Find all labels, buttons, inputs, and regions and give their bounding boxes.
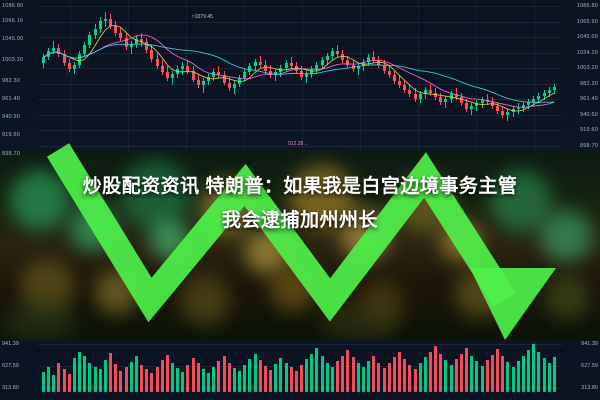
bokeh-blob bbox=[180, 275, 230, 325]
price-tick-label: 1086.80 bbox=[577, 3, 598, 9]
grid-line bbox=[38, 344, 562, 345]
volume-bar bbox=[202, 369, 205, 392]
price-tick-label: 961.40 bbox=[580, 96, 598, 102]
candle-body bbox=[486, 100, 489, 101]
volume-bar bbox=[491, 355, 494, 392]
candle-body bbox=[300, 71, 303, 77]
volume-bar bbox=[145, 369, 148, 392]
volume-bar bbox=[424, 357, 427, 392]
volume-bar bbox=[383, 368, 386, 392]
candle-body bbox=[315, 65, 318, 69]
grid-line-vertical bbox=[186, 0, 187, 152]
bokeh-blob bbox=[95, 270, 139, 314]
volume-bar bbox=[450, 365, 453, 392]
volume-bar bbox=[274, 364, 277, 392]
candle-body bbox=[305, 74, 308, 77]
candle-body bbox=[336, 51, 339, 54]
volume-chart: 941.39627.59313.80 941.39627.59313.80 bbox=[0, 336, 600, 400]
volume-bar bbox=[94, 367, 97, 392]
volume-bar bbox=[78, 352, 81, 392]
price-tick-label: 1045.00 bbox=[2, 36, 23, 42]
volume-bar bbox=[419, 363, 422, 392]
candle-body bbox=[444, 99, 447, 102]
candle-body bbox=[419, 94, 422, 98]
volume-bar bbox=[393, 357, 396, 392]
candle-body bbox=[553, 87, 556, 90]
volume-bar bbox=[269, 370, 272, 392]
candle-body bbox=[424, 90, 427, 94]
volume-bar bbox=[109, 353, 112, 392]
headline-line2: 我会逮捕加州州长 bbox=[0, 204, 600, 238]
candle-wick bbox=[358, 63, 359, 75]
volume-bar bbox=[300, 365, 303, 392]
volume-bar bbox=[434, 346, 437, 392]
volume-bar bbox=[439, 354, 442, 392]
candle-body bbox=[109, 19, 112, 26]
volume-bar bbox=[161, 360, 164, 392]
candle-body bbox=[310, 69, 313, 73]
volume-bar bbox=[243, 365, 246, 392]
volume-bar bbox=[181, 372, 184, 392]
price-tick-label: 919.60 bbox=[2, 132, 20, 138]
candle-body bbox=[171, 74, 174, 78]
grid-line-vertical bbox=[534, 0, 535, 152]
price-tick-label: 1045.00 bbox=[577, 34, 598, 40]
price-tick-label: 982.30 bbox=[580, 81, 598, 87]
volume-bar bbox=[264, 366, 267, 392]
candle-body bbox=[543, 93, 546, 96]
candle-body bbox=[264, 65, 267, 71]
grid-line-vertical bbox=[418, 0, 419, 152]
candle-body bbox=[140, 39, 143, 42]
volume-bar bbox=[310, 354, 313, 392]
grid-line-vertical bbox=[360, 0, 361, 152]
volume-bar bbox=[73, 358, 76, 392]
grid-line bbox=[38, 84, 562, 85]
price-tick-label: 940.50 bbox=[2, 114, 20, 120]
volume-bar bbox=[150, 373, 153, 392]
candle-body bbox=[496, 106, 499, 110]
candle-body bbox=[217, 72, 220, 75]
candle-body bbox=[238, 78, 241, 84]
price-tick-label: 961.40 bbox=[2, 96, 20, 102]
candle-body bbox=[372, 57, 375, 60]
volume-bar bbox=[114, 364, 117, 392]
candle-body bbox=[321, 60, 324, 64]
candle-body bbox=[156, 59, 159, 66]
candle-body bbox=[491, 102, 494, 106]
volume-bar bbox=[42, 372, 45, 392]
candle-body bbox=[388, 71, 391, 75]
candle-body bbox=[254, 62, 257, 66]
candle-body bbox=[186, 66, 189, 70]
candle-body bbox=[455, 94, 458, 97]
volume-bar bbox=[238, 371, 241, 392]
candle-body bbox=[94, 29, 97, 35]
candle-body bbox=[207, 77, 210, 81]
volume-bar bbox=[254, 354, 257, 392]
candle-body bbox=[47, 51, 50, 57]
volume-bar bbox=[248, 359, 251, 392]
candle-body bbox=[73, 65, 76, 69]
volume-bar bbox=[140, 365, 143, 392]
volume-bar bbox=[532, 344, 535, 392]
candle-body bbox=[119, 33, 122, 37]
volume-bar bbox=[362, 367, 365, 392]
candle-body bbox=[393, 75, 396, 81]
volume-bar bbox=[57, 363, 60, 392]
candle-body bbox=[403, 85, 406, 89]
volume-tick-label: 313.80 bbox=[2, 385, 19, 391]
candle-body bbox=[78, 54, 81, 64]
volume-bar bbox=[398, 352, 401, 392]
grid-line bbox=[38, 6, 562, 7]
volume-bar bbox=[259, 360, 262, 392]
moving-average-line bbox=[44, 35, 555, 107]
volume-tick-label: 941.39 bbox=[2, 341, 19, 347]
candle-wick bbox=[306, 71, 307, 83]
grid-line bbox=[38, 22, 562, 23]
volume-bar bbox=[512, 367, 515, 392]
candle-body bbox=[470, 106, 473, 109]
headline-overlay: 炒股配资资讯 特朗普：如果我是白宫边境事务主管 我会逮捕加州州长 bbox=[0, 170, 600, 238]
price-tick-label: 1086.80 bbox=[2, 3, 23, 9]
bokeh-blob bbox=[545, 275, 589, 319]
candle-body bbox=[460, 97, 463, 103]
volume-bar bbox=[414, 369, 417, 392]
candle-body bbox=[114, 26, 117, 33]
volume-bar bbox=[47, 367, 50, 392]
volume-bar bbox=[156, 367, 159, 392]
volume-bar bbox=[543, 358, 546, 392]
candle-body bbox=[408, 90, 411, 94]
volume-bar bbox=[125, 367, 128, 392]
volume-bar bbox=[212, 367, 215, 392]
candle-body bbox=[176, 69, 179, 73]
volume-bar bbox=[176, 368, 179, 392]
volume-tick-label: 313.80 bbox=[581, 385, 598, 391]
candle-body bbox=[326, 56, 329, 60]
bokeh-blob bbox=[320, 300, 400, 340]
volume-bar bbox=[228, 363, 231, 392]
volume-bar bbox=[321, 356, 324, 392]
volume-bar bbox=[197, 363, 200, 392]
volume-bar bbox=[207, 373, 210, 392]
volume-bar bbox=[88, 363, 91, 392]
candle-body bbox=[357, 66, 360, 69]
candle-body bbox=[68, 63, 71, 69]
volume-bar bbox=[408, 365, 411, 392]
volume-bar bbox=[305, 359, 308, 392]
bokeh-blob bbox=[5, 300, 75, 340]
chart-annotation: 912.28→ bbox=[288, 141, 308, 147]
candle-body bbox=[285, 63, 288, 67]
grid-line bbox=[38, 130, 562, 131]
candle-body bbox=[161, 66, 164, 72]
bokeh-blob bbox=[455, 268, 505, 318]
volume-bar bbox=[171, 363, 174, 392]
candle-body bbox=[537, 96, 540, 99]
candle-body bbox=[429, 90, 432, 93]
candle-body bbox=[145, 42, 148, 49]
candle-wick bbox=[507, 109, 508, 121]
volume-bar bbox=[285, 363, 288, 392]
grid-line bbox=[38, 68, 562, 69]
volume-bar bbox=[52, 375, 55, 392]
volume-bar bbox=[537, 352, 540, 392]
volume-bar bbox=[315, 348, 318, 392]
volume-bar bbox=[527, 350, 530, 392]
volume-bar bbox=[460, 354, 463, 392]
candle-body bbox=[341, 54, 344, 60]
candle-body bbox=[434, 93, 437, 97]
volume-bar bbox=[104, 360, 107, 392]
price-tick-label: 919.60 bbox=[580, 127, 598, 133]
grid-line-vertical bbox=[128, 0, 129, 152]
volume-bar bbox=[548, 363, 551, 392]
candle-body bbox=[506, 112, 509, 115]
candle-body bbox=[52, 48, 55, 52]
volume-bar bbox=[166, 355, 169, 392]
candle-body bbox=[481, 100, 484, 103]
candle-body bbox=[228, 83, 231, 89]
candle-body bbox=[414, 94, 417, 98]
candle-body bbox=[352, 65, 355, 69]
candle-body bbox=[439, 97, 442, 101]
candle-body bbox=[398, 81, 401, 85]
grid-line-vertical bbox=[70, 0, 71, 152]
headline-source: 炒股配资资讯 bbox=[83, 176, 200, 197]
volume-bar bbox=[336, 361, 339, 392]
volume-bar bbox=[346, 350, 349, 392]
volume-bar bbox=[192, 358, 195, 392]
volume-bar bbox=[377, 363, 380, 392]
volume-bar bbox=[388, 363, 391, 392]
candle-body bbox=[377, 60, 380, 64]
candle-body bbox=[290, 63, 293, 66]
volume-bar bbox=[367, 361, 370, 392]
volume-bar bbox=[470, 356, 473, 392]
volume-bar bbox=[465, 348, 468, 392]
price-tick-label: 898.70 bbox=[2, 151, 20, 157]
candle-body bbox=[181, 66, 184, 69]
price-tick-label: 1003.20 bbox=[2, 57, 23, 63]
candle-wick bbox=[275, 69, 276, 81]
price-tick-label: 1003.20 bbox=[577, 65, 598, 71]
price-tick-label: 898.70 bbox=[580, 143, 598, 149]
volume-bar bbox=[279, 358, 282, 392]
chart-screenshot: 1086.801066.101045.001003.20982.30961.40… bbox=[0, 0, 600, 400]
candle-body bbox=[450, 94, 453, 98]
volume-bar bbox=[501, 356, 504, 392]
volume-bar bbox=[429, 352, 432, 392]
candle-body bbox=[383, 65, 386, 71]
candle-body bbox=[63, 54, 66, 63]
price-tick-label: 940.50 bbox=[580, 112, 598, 118]
volume-tick-label: 627.59 bbox=[2, 363, 19, 369]
volume-bar bbox=[352, 357, 355, 392]
candle-body bbox=[202, 81, 205, 85]
volume-bar bbox=[83, 356, 86, 392]
price-tick-label: 1065.90 bbox=[577, 19, 598, 25]
candle-body bbox=[295, 66, 298, 70]
volume-bar bbox=[481, 366, 484, 392]
candle-body bbox=[197, 80, 200, 86]
candle-body bbox=[465, 103, 468, 109]
volume-bar bbox=[119, 371, 122, 392]
volume-tick-label: 941.39 bbox=[581, 341, 598, 347]
volume-bar bbox=[475, 361, 478, 392]
candle-body bbox=[522, 105, 525, 108]
candle-body bbox=[88, 35, 91, 45]
price-tick-label: 1024.10 bbox=[577, 50, 598, 56]
volume-bar bbox=[295, 371, 298, 392]
candle-body bbox=[346, 60, 349, 64]
volume-bar bbox=[553, 357, 556, 392]
candle-body bbox=[42, 57, 45, 63]
candle-body bbox=[362, 62, 365, 66]
volume-bar bbox=[341, 356, 344, 392]
volume-bar bbox=[486, 360, 489, 392]
candle-body bbox=[104, 19, 107, 22]
volume-bar bbox=[444, 360, 447, 392]
candle-body bbox=[517, 108, 520, 109]
volume-bar bbox=[135, 356, 138, 392]
candle-body bbox=[501, 111, 504, 115]
candle-body bbox=[274, 72, 277, 75]
volume-bar bbox=[99, 369, 102, 392]
candle-body bbox=[259, 62, 262, 65]
price-tick-label: 1066.10 bbox=[2, 18, 23, 24]
volume-bar bbox=[130, 362, 133, 392]
chart-annotation: ≈1079.45 bbox=[192, 14, 213, 20]
candle-wick bbox=[445, 96, 446, 108]
volume-bar bbox=[357, 363, 360, 392]
candle-body bbox=[512, 109, 515, 112]
volume-bar bbox=[68, 374, 71, 392]
candle-body bbox=[548, 90, 551, 93]
candle-body bbox=[331, 51, 334, 55]
grid-line bbox=[38, 53, 562, 54]
volume-bar bbox=[186, 365, 189, 392]
candle-body bbox=[57, 48, 60, 55]
candle-body bbox=[135, 39, 138, 43]
candle-wick bbox=[471, 103, 472, 115]
volume-bar bbox=[455, 359, 458, 392]
candle-body bbox=[279, 68, 282, 72]
volume-bar bbox=[233, 368, 236, 392]
candle-body bbox=[125, 38, 128, 47]
candle-body bbox=[150, 50, 153, 59]
candle-body bbox=[532, 99, 535, 102]
candle-body bbox=[248, 66, 251, 72]
candle-body bbox=[166, 72, 169, 78]
candle-body bbox=[367, 57, 370, 61]
candle-body bbox=[223, 75, 226, 82]
candle-body bbox=[192, 71, 195, 80]
volume-bar bbox=[496, 349, 499, 392]
headline-line1: 特朗普：如果我是白宫边境事务主管 bbox=[205, 176, 517, 197]
candle-body bbox=[212, 72, 215, 76]
candle-body bbox=[269, 71, 272, 75]
volume-bar bbox=[331, 367, 334, 392]
volume-bar bbox=[326, 363, 329, 392]
price-chart: 1086.801066.101045.001003.20982.30961.40… bbox=[0, 0, 600, 152]
candle-body bbox=[83, 45, 86, 54]
volume-bar bbox=[506, 362, 509, 392]
grid-line bbox=[38, 37, 562, 38]
candle-body bbox=[243, 72, 246, 78]
candle-body bbox=[527, 102, 530, 105]
grid-line-vertical bbox=[476, 0, 477, 152]
volume-bar bbox=[522, 356, 525, 392]
volume-bar bbox=[403, 359, 406, 392]
candle-body bbox=[475, 103, 478, 106]
volume-bar bbox=[63, 369, 66, 392]
volume-bar bbox=[290, 367, 293, 392]
candle-body bbox=[233, 84, 236, 88]
volume-bar bbox=[223, 356, 226, 392]
grid-line bbox=[38, 115, 562, 116]
candle-body bbox=[99, 21, 102, 28]
volume-bar bbox=[217, 361, 220, 392]
bokeh-blob bbox=[270, 265, 316, 311]
candle-body bbox=[130, 44, 133, 47]
volume-tick-label: 627.59 bbox=[581, 363, 598, 369]
price-tick-label: 982.30 bbox=[2, 78, 20, 84]
volume-bar bbox=[372, 356, 375, 392]
volume-bar bbox=[517, 361, 520, 392]
